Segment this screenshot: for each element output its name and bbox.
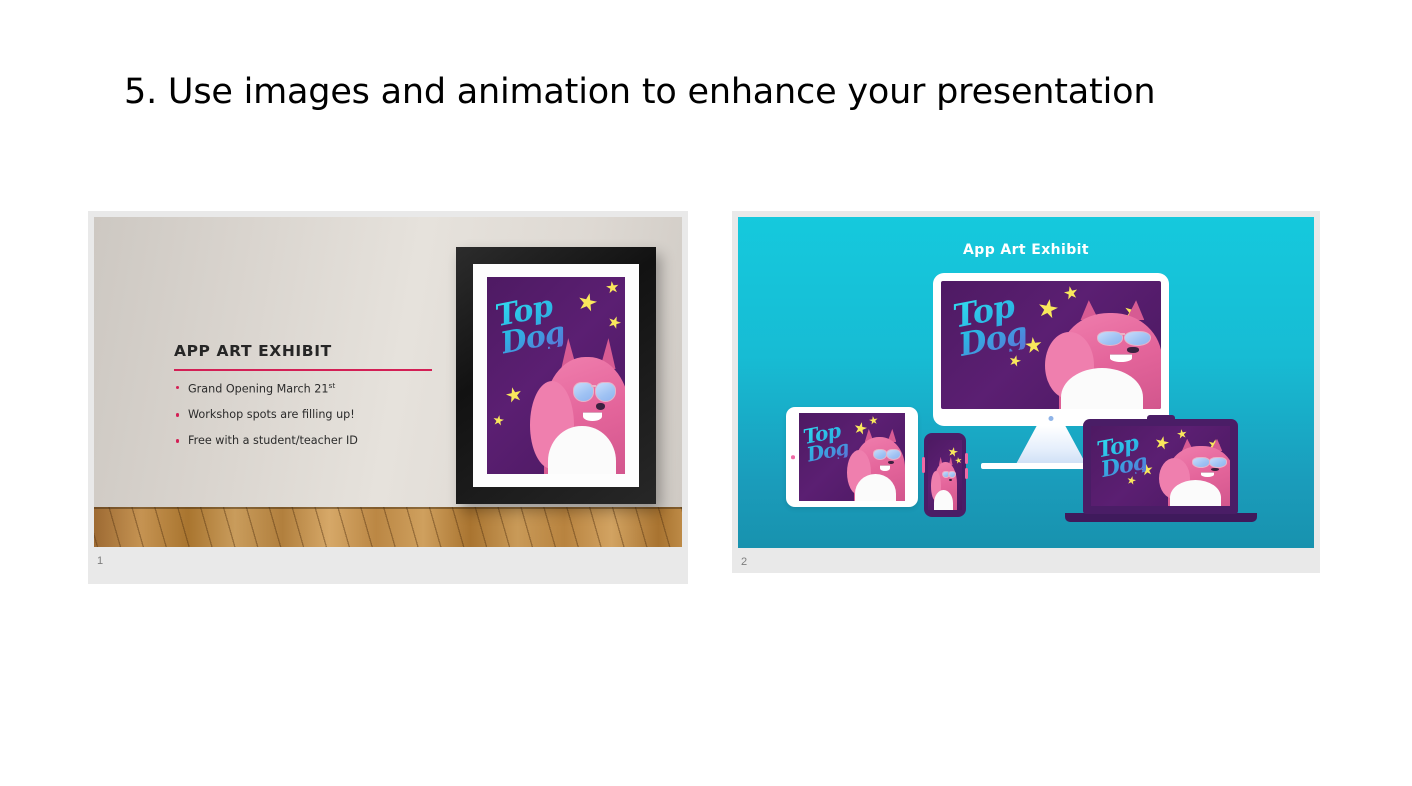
slide-2-stage: App Art Exhibit [738, 217, 1314, 548]
dog-mouth [880, 465, 890, 471]
dog-mouth [1110, 354, 1132, 362]
sunglasses-bridge [591, 385, 596, 387]
top-dog-script-text: Top Dog [951, 290, 1029, 361]
laptop-base [1065, 513, 1257, 522]
dog-illustration [1158, 439, 1230, 506]
framed-poster: Top Dog [456, 247, 656, 504]
top-dog-artwork: Top Dog [941, 281, 1161, 409]
laptop-mockup: Top Dog [1083, 419, 1238, 514]
tablet-camera-dot [791, 455, 795, 459]
phone-button-volume-up [965, 453, 968, 464]
bullet-text-3: Free with a student/teacher ID [188, 434, 358, 447]
star-icon [576, 291, 599, 314]
list-item: Free with a student/teacher ID [174, 434, 449, 447]
bullet-text-2: Workshop spots are filling up! [188, 408, 355, 421]
dog-illustration [931, 457, 962, 510]
wooden-floor [94, 507, 682, 547]
top-dog-script-text: Top Dog [1096, 432, 1149, 481]
page-title: 5. Use images and animation to enhance y… [124, 72, 1155, 112]
monitor-power-dot [1049, 416, 1054, 421]
slide-number-1: 1 [97, 555, 103, 567]
slide-number-2: 2 [741, 556, 747, 568]
star-icon [868, 415, 878, 425]
sunglasses-lens-left [1192, 457, 1210, 467]
dog-nose [949, 479, 952, 482]
sunglasses-bridge [1120, 333, 1125, 335]
sunglasses-lens-right [1124, 331, 1151, 347]
top-dog-artwork: Top Dog [1091, 426, 1230, 506]
phone-button-volume-down [965, 468, 968, 479]
dog-mouth [1201, 472, 1214, 477]
slide-thumbnail-1[interactable]: APP ART EXHIBIT Grand Opening March 21st… [88, 211, 688, 584]
phone-button-power [922, 457, 925, 473]
desktop-monitor-mockup: Top Dog [933, 273, 1169, 426]
star-icon [492, 414, 505, 427]
dog-illustration [523, 338, 625, 474]
top-dog-script-text: Top Dog [493, 291, 566, 357]
star-icon [505, 386, 524, 405]
smartphone-mockup [924, 433, 966, 517]
slide-1-stage: APP ART EXHIBIT Grand Opening March 21st… [94, 217, 682, 547]
slide-thumbnail-2[interactable]: App Art Exhibit [732, 211, 1320, 573]
dog-illustration [1042, 300, 1161, 409]
list-item: Workshop spots are filling up! [174, 408, 449, 421]
top-dog-artwork: Top Dog [487, 277, 625, 474]
star-icon [1008, 354, 1023, 369]
slide-1-bullet-list: Grand Opening March 21st Workshop spots … [174, 381, 449, 448]
star-icon [1063, 285, 1080, 302]
star-icon [605, 280, 620, 295]
dog-illustration [846, 429, 905, 501]
poster-mat: Top Dog [473, 264, 639, 487]
slide-1-heading: APP ART EXHIBIT [174, 342, 449, 360]
slide-2-title: App Art Exhibit [738, 242, 1314, 258]
bullet-superscript-1: st [329, 381, 336, 390]
sunglasses-lens-right [1209, 457, 1227, 467]
top-dog-script-text: Top Dog [802, 421, 850, 465]
bullet-text-1: Grand Opening March 21 [188, 382, 329, 395]
top-dog-artwork [928, 440, 962, 510]
star-icon [607, 315, 624, 332]
heading-divider-line [174, 369, 432, 371]
slide-1-text-block: APP ART EXHIBIT Grand Opening March 21st… [174, 342, 449, 460]
laptop-hinge [1147, 415, 1175, 420]
tablet-mockup: Top Dog [786, 407, 918, 507]
top-dog-artwork: Top Dog [799, 413, 905, 501]
list-item: Grand Opening March 21st [174, 381, 449, 396]
